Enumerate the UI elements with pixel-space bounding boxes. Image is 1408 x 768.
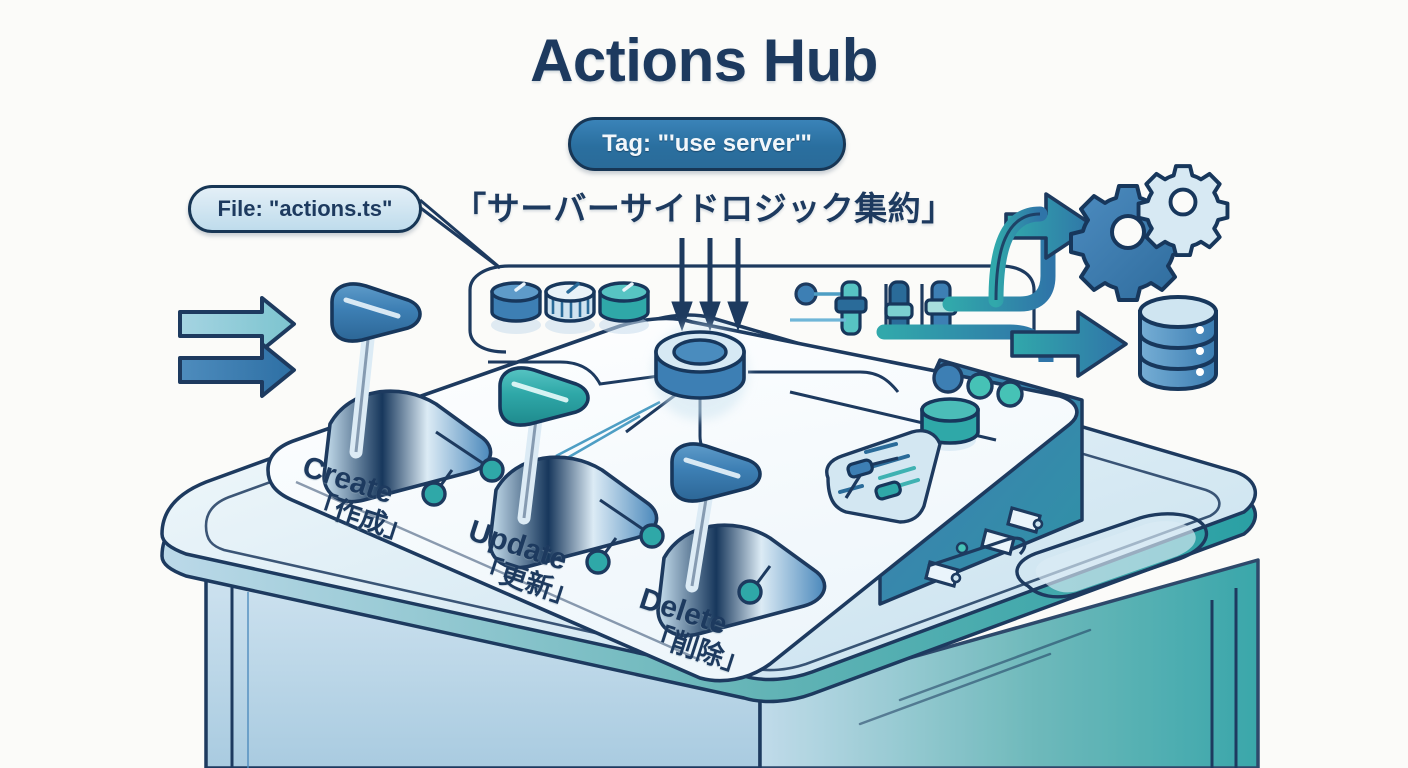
page-subtitle: 「サーバーサイドロジック集約」 xyxy=(0,182,1408,230)
status-light-2[interactable] xyxy=(968,374,992,398)
slider-icon-1[interactable] xyxy=(836,282,866,334)
tag-badge-label: Tag: "'use server'" xyxy=(602,130,812,158)
illustration-canvas: { "page": { "title": "Actions Hub", "sub… xyxy=(0,0,1408,768)
knob-icon-3[interactable] xyxy=(599,283,649,334)
wire-node xyxy=(796,284,816,304)
knob-icon-1[interactable] xyxy=(491,283,541,334)
tag-badge[interactable]: Tag: "'use server'" xyxy=(568,117,846,171)
status-light-3[interactable] xyxy=(998,382,1022,406)
knob-ridged-icon-2[interactable] xyxy=(545,283,595,334)
page-title: Actions Hub xyxy=(0,26,1408,95)
db-dot-1 xyxy=(1196,326,1204,334)
central-dial-icon[interactable] xyxy=(652,324,748,420)
knob-group xyxy=(491,283,649,334)
db-dot-3 xyxy=(1196,368,1204,376)
down-arrows xyxy=(672,238,748,330)
database-icon xyxy=(1140,297,1216,389)
port-indicator-light xyxy=(957,543,967,553)
status-light-1[interactable] xyxy=(934,364,962,392)
db-dot-2 xyxy=(1196,347,1204,355)
